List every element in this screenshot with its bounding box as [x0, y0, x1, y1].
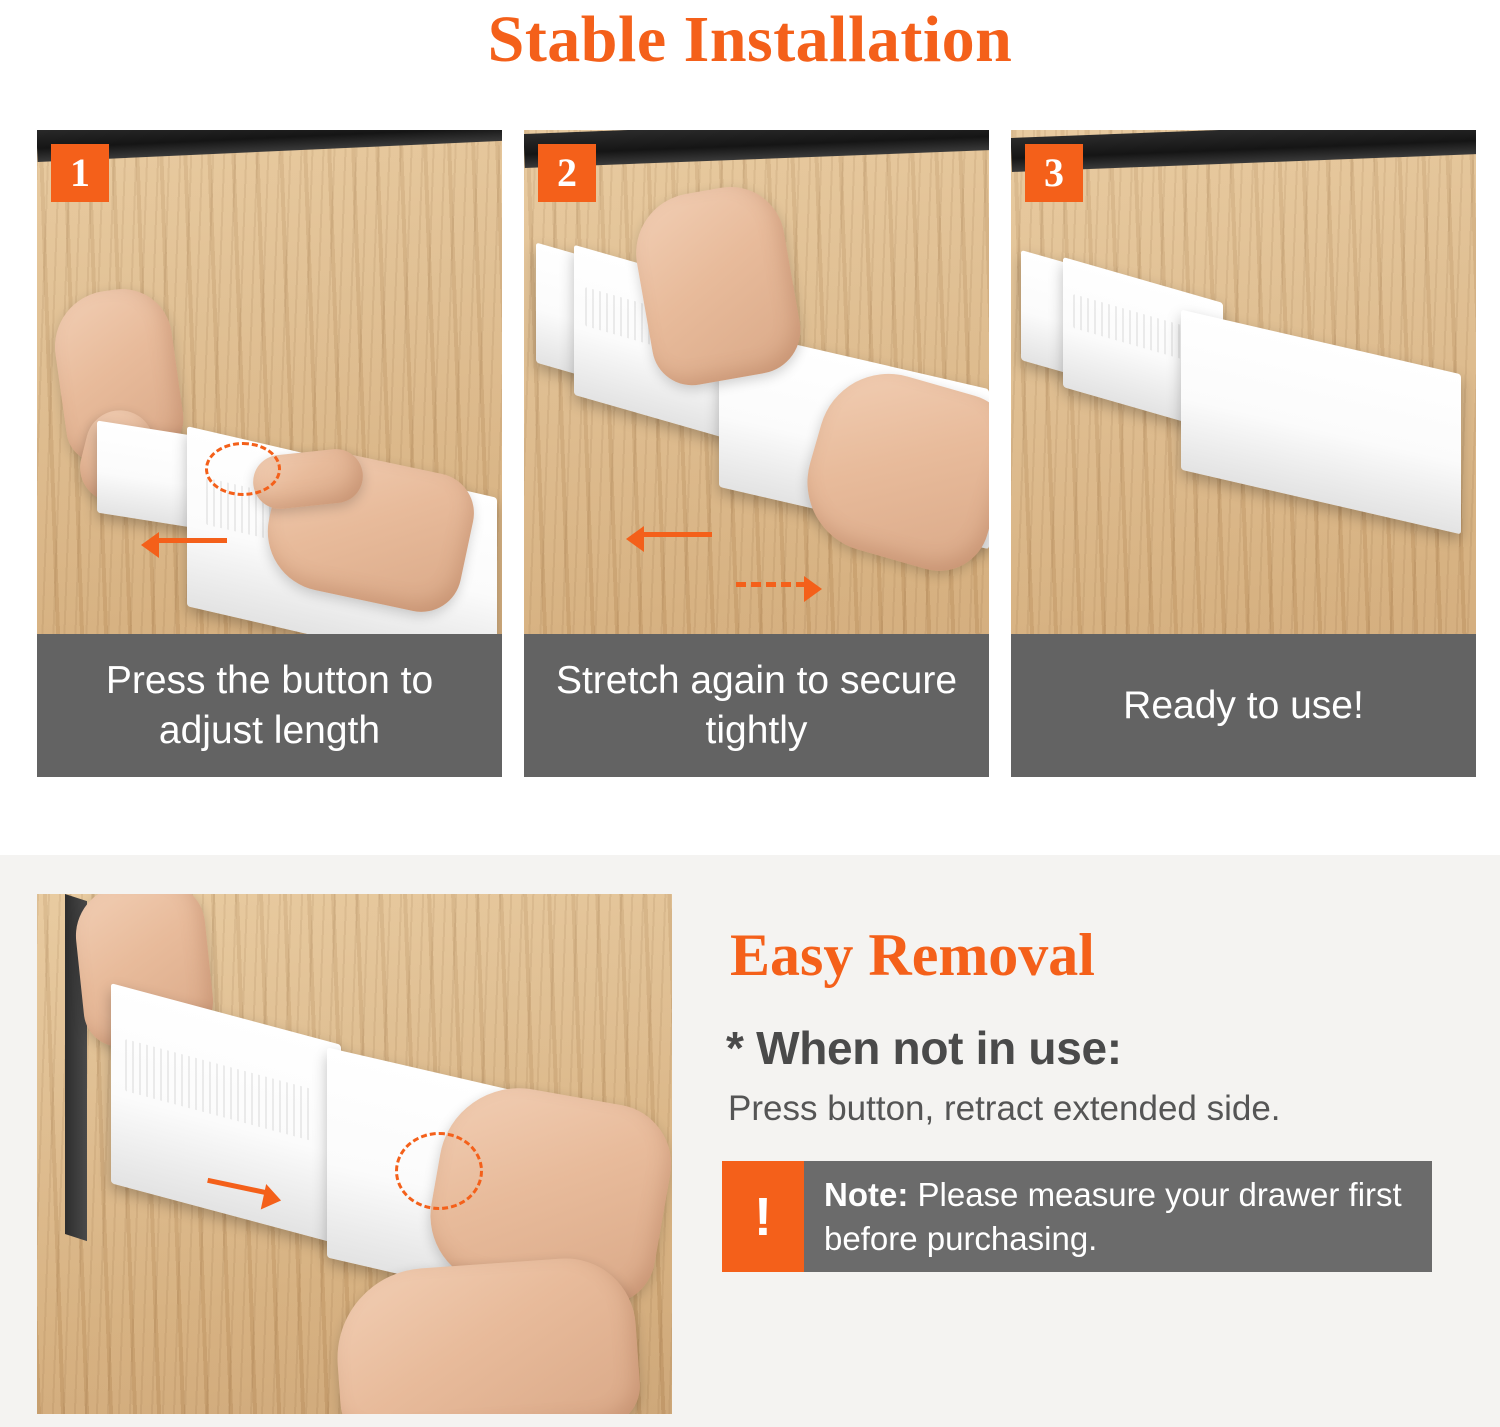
step-card-1: 1 Press the button to adjust length — [37, 130, 502, 777]
note-body: Please measure your drawer first before … — [824, 1176, 1402, 1257]
easy-removal-section: Easy Removal * When not in use: Press bu… — [0, 855, 1500, 1427]
note-bar: ! Note: Please measure your drawer first… — [722, 1161, 1432, 1272]
exclamation-icon: ! — [722, 1161, 804, 1272]
step-card-2: 2 Stretch again to secure tightly — [524, 130, 989, 777]
section-divider — [0, 848, 1500, 855]
arrow-retract — [157, 538, 227, 543]
note-label: Note: — [824, 1176, 908, 1213]
step-card-3: 3 Ready to use! — [1011, 130, 1476, 777]
step-number-2: 2 — [538, 144, 596, 202]
step-caption-2: Stretch again to secure tightly — [524, 634, 989, 777]
button-highlight-circle — [395, 1132, 483, 1210]
removal-instruction: Press button, retract extended side. — [728, 1089, 1462, 1129]
easy-removal-title: Easy Removal — [730, 925, 1462, 985]
easy-removal-text-block: Easy Removal * When not in use: Press bu… — [722, 925, 1462, 1272]
step-caption-3: Ready to use! — [1011, 634, 1476, 777]
button-highlight-circle — [205, 442, 281, 496]
step-number-3: 3 — [1025, 144, 1083, 202]
installation-steps-row: 1 Press the button to adjust length 2 St… — [37, 130, 1476, 777]
step-number-1: 1 — [51, 144, 109, 202]
arrow-push-left — [642, 532, 712, 537]
arrow-stretch-right — [736, 582, 806, 587]
note-text: Note: Please measure your drawer first b… — [804, 1161, 1432, 1272]
stable-installation-section: Stable Installation 1 Press the button t… — [0, 0, 1500, 855]
when-not-in-use-heading: * When not in use: — [726, 1021, 1462, 1075]
step-caption-1: Press the button to adjust length — [37, 634, 502, 777]
page-title: Stable Installation — [0, 0, 1500, 78]
divider-texture — [125, 1039, 314, 1142]
easy-removal-photo — [37, 894, 672, 1414]
